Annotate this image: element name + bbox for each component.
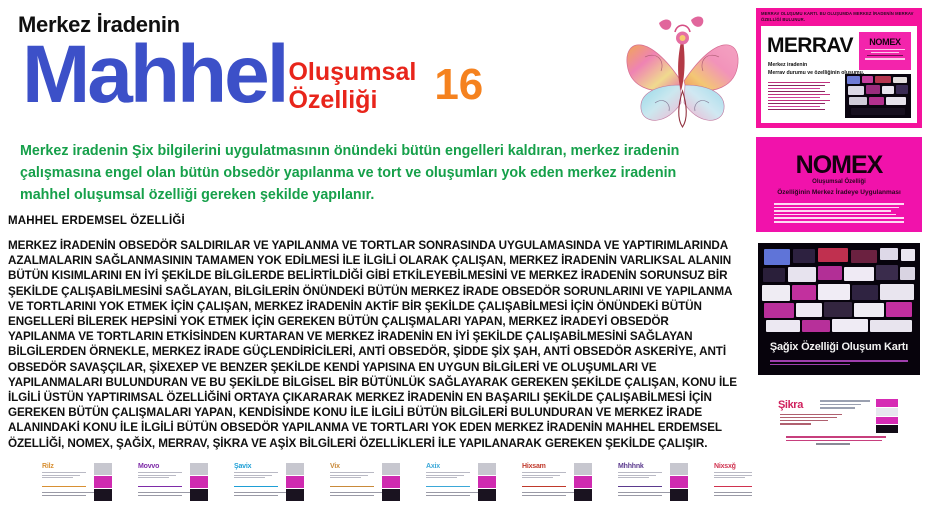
right-rail: MERRAV OLUŞUMU KARTI. BU OLUŞUMDA MERKEZ… xyxy=(752,0,925,527)
body-paragraph: MERKEZ İRADENİN OBSEDÖR SALDIRILAR VE YA… xyxy=(8,238,738,451)
nomex-subtitle-1: Oluşumsal Özelliği xyxy=(756,179,922,185)
nomex-text-lines xyxy=(774,203,904,225)
thumbnail-card[interactable]: Vix xyxy=(328,462,402,504)
thumbnail-label: Mhhhnk xyxy=(618,463,644,470)
thumbnail-footer-lines xyxy=(234,492,290,497)
thumbnail-lines xyxy=(138,472,182,480)
thumbnail-footer-lines xyxy=(522,492,578,497)
thumbnail-label: Rilz xyxy=(42,463,54,470)
thumbnail-lines xyxy=(234,472,278,480)
sikra-wordmark: Şikra xyxy=(778,399,803,411)
thumbnail-rule xyxy=(522,486,566,487)
thumbnail-side-blocks xyxy=(190,463,208,501)
title-subwords: Oluşumsal Özelliği xyxy=(288,58,416,114)
page-title: Mahhel xyxy=(22,36,286,114)
thumbnail-lines xyxy=(42,472,86,480)
thumbnail-label: Axix xyxy=(426,463,440,470)
thumbnail-card[interactable]: Mhhhnk xyxy=(616,462,690,504)
sikra-top-lines xyxy=(820,400,870,411)
sagix-footer-lines xyxy=(770,360,908,367)
nomex-wordmark: NOMEX xyxy=(756,151,922,180)
merrav-text-lines xyxy=(768,82,830,112)
thumbnail-label: Nixsxğ xyxy=(714,463,736,470)
thumbnail-footer-lines xyxy=(426,492,482,497)
thumbnail-label: Şavix xyxy=(234,463,251,470)
thumbnail-card[interactable]: Şavix xyxy=(232,462,306,504)
thumbnail-footer-lines xyxy=(42,492,98,497)
thumbnail-card[interactable]: Axix xyxy=(424,462,498,504)
main-content: Merkez İradenin Mahhel Oluşumsal Özelliğ… xyxy=(0,0,750,527)
merrav-card-body: MERRAV Merkez iradenin Merrav durumu ve … xyxy=(761,26,917,123)
thumbnail-footer-lines xyxy=(618,492,674,497)
thumbnail-side-blocks xyxy=(478,463,496,501)
title-subword-line2: Özelliği xyxy=(288,86,416,114)
sikra-footer-lines xyxy=(786,436,886,447)
thumbnail-side-blocks xyxy=(670,463,688,501)
title-row: Mahhel Oluşumsal Özelliği 16 xyxy=(22,36,483,114)
sikra-side-blocks xyxy=(876,399,898,433)
thumbnail-side-blocks xyxy=(382,463,400,501)
merrav-collage-thumbnail[interactable] xyxy=(845,74,911,118)
thumbnail-footer-lines xyxy=(330,492,386,497)
thumbnail-lines xyxy=(330,472,374,480)
nomex-subtitle-2: Özelliğinin Merkez İradeye Uygulanması xyxy=(756,189,922,196)
thumbnail-rule xyxy=(42,486,86,487)
lead-paragraph: Merkez iradenin Şix bilgilerini uygulatm… xyxy=(20,140,725,206)
thumbnail-card[interactable]: Hixsam xyxy=(520,462,594,504)
nomex-card[interactable]: NOMEX Oluşumsal Özelliği Özelliğinin Mer… xyxy=(756,137,922,232)
merrav-subtitle-1: Merkez iradenin xyxy=(768,62,807,68)
thumbnail-rule xyxy=(618,486,662,487)
butterfly-icon xyxy=(615,5,750,140)
thumbnail-rule xyxy=(426,486,470,487)
sagix-caption: Şağix Özelliği Oluşum Kartı xyxy=(758,341,920,353)
thumbnail-label: Vix xyxy=(330,463,340,470)
thumbnail-rule xyxy=(330,486,374,487)
thumbnail-lines xyxy=(618,472,662,480)
thumbnail-card[interactable]: Movvo xyxy=(136,462,210,504)
thumbnail-lines xyxy=(426,472,470,480)
thumbnail-footer-lines xyxy=(138,492,194,497)
thumbnail-side-blocks xyxy=(574,463,592,501)
nomex-mini-card[interactable]: NOMEX xyxy=(859,32,911,70)
sikra-card[interactable]: Şikra xyxy=(776,398,900,448)
nomex-mini-wordmark: NOMEX xyxy=(859,37,911,47)
thumbnail-side-blocks xyxy=(94,463,112,501)
thumbnail-rule xyxy=(138,486,182,487)
thumbnail-lines xyxy=(522,472,566,480)
merrav-wordmark: MERRAV xyxy=(767,34,853,58)
thumbnail-rule xyxy=(234,486,278,487)
thumbnail-side-blocks xyxy=(286,463,304,501)
sagix-card[interactable]: Şağix Özelliği Oluşum Kartı xyxy=(758,243,920,375)
thumbnail-card[interactable]: Rilz xyxy=(40,462,114,504)
merrav-card-header: MERRAV OLUŞUMU KARTI. BU OLUŞUMDA MERKEZ… xyxy=(761,11,917,23)
section-subheading: MAHHEL ERDEMSEL ÖZELLİĞİ xyxy=(8,215,185,227)
title-subword-line1: Oluşumsal xyxy=(288,58,416,86)
thumbnail-label: Movvo xyxy=(138,463,159,470)
thumbnail-label: Hixsam xyxy=(522,463,546,470)
nomex-mini-lines xyxy=(865,49,905,61)
merrav-card[interactable]: MERRAV OLUŞUMU KARTI. BU OLUŞUMDA MERKEZ… xyxy=(756,8,922,128)
page-number-badge: 16 xyxy=(434,62,483,108)
sikra-body-lines xyxy=(780,414,842,426)
